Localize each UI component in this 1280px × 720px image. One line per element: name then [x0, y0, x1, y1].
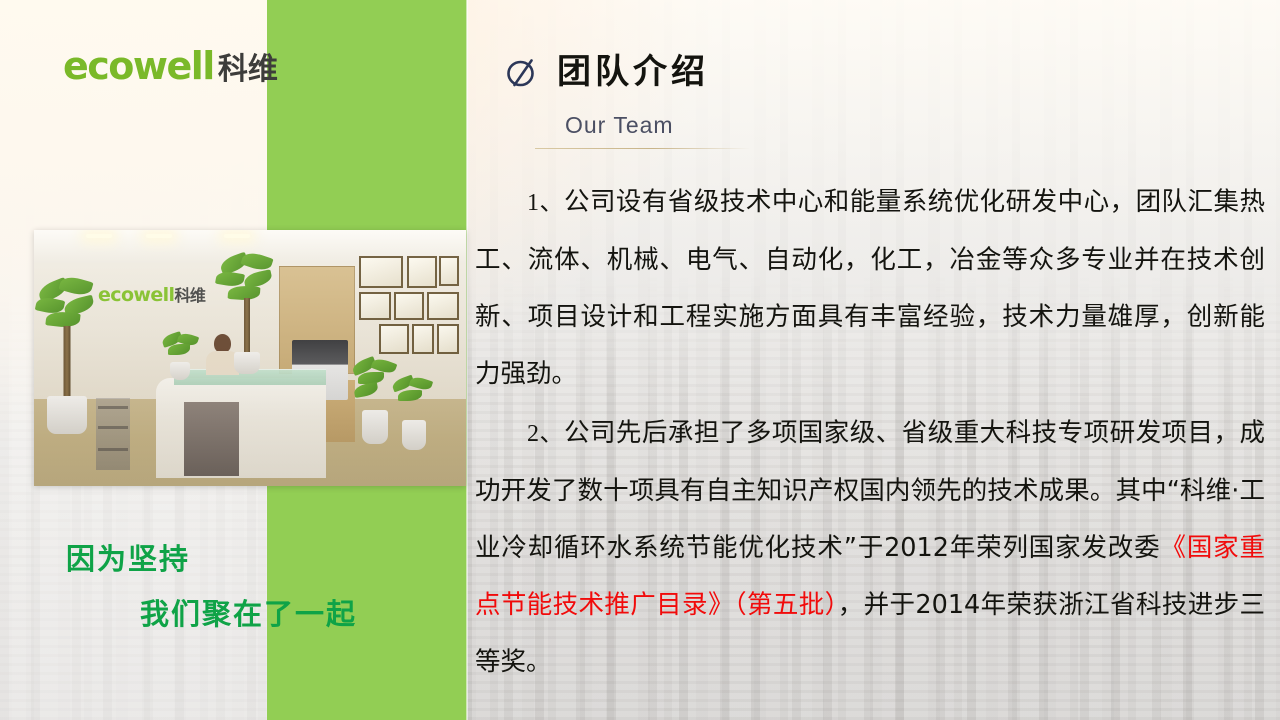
ceiling-light-icon — [224, 234, 250, 238]
office-reception-photo: ecowell科维 — [34, 230, 466, 486]
ceiling-light-icon — [146, 234, 172, 238]
ceiling-light-icon — [86, 234, 112, 238]
desk-metal-panel — [184, 402, 239, 476]
company-logo: ecowell 科维 — [63, 47, 278, 85]
body-text-block: 1、公司设有省级技术中心和能量系统优化研发中心，团队汇集热工、流体、机械、电气、… — [475, 174, 1265, 691]
paragraph-2-number: 2、 — [527, 421, 564, 447]
page-subtitle: Our Team — [565, 112, 674, 139]
slogan-line-1: 因为坚持 — [66, 540, 467, 579]
slashed-circle-icon — [505, 55, 539, 89]
slogan-block: 因为坚持 我们聚在了一起 — [0, 540, 467, 634]
photo-plant-right-b — [392, 378, 436, 450]
reception-desk — [156, 378, 326, 478]
photo-plant-left — [36, 278, 98, 434]
paragraph-2-text-before: 公司先后承担了多项国家级、省级重大科技专项研发项目，成功开发了数十项具有自主知识… — [475, 418, 1265, 563]
title-underline-rule — [535, 148, 750, 149]
certificate-frames — [359, 256, 459, 366]
paragraph-1: 1、公司设有省级技术中心和能量系统优化研发中心，团队汇集热工、流体、机械、电气、… — [475, 174, 1265, 403]
logo-wordmark: ecowell — [63, 47, 214, 85]
paragraph-1-number: 1、 — [527, 190, 564, 216]
paragraph-2: 2、公司先后承担了多项国家级、省级重大科技专项研发项目，成功开发了数十项具有自主… — [475, 405, 1265, 691]
photo-plant-center — [216, 254, 278, 374]
photo-shelf-cart — [96, 398, 130, 470]
page-title: 团队介绍 — [557, 55, 709, 89]
photo-wall-logo: ecowell科维 — [98, 282, 205, 306]
content-pane: 团队介绍 Our Team 1、公司设有省级技术中心和能量系统优化研发中心，团队… — [467, 0, 1280, 720]
slide-root: ecowell 科维 ecowell科维 — [0, 0, 1280, 720]
paragraph-1-text: 公司设有省级技术中心和能量系统优化研发中心，团队汇集热工、流体、机械、电气、自动… — [475, 187, 1265, 389]
photo-plant-desk — [160, 334, 200, 380]
section-header: 团队介绍 — [505, 55, 709, 89]
logo-chinese-name: 科维 — [218, 55, 278, 85]
photo-wall-logo-cn: 科维 — [174, 286, 205, 305]
slogan-line-2: 我们聚在了一起 — [140, 595, 467, 634]
photo-wall-logo-mark: ecowell — [98, 284, 174, 306]
